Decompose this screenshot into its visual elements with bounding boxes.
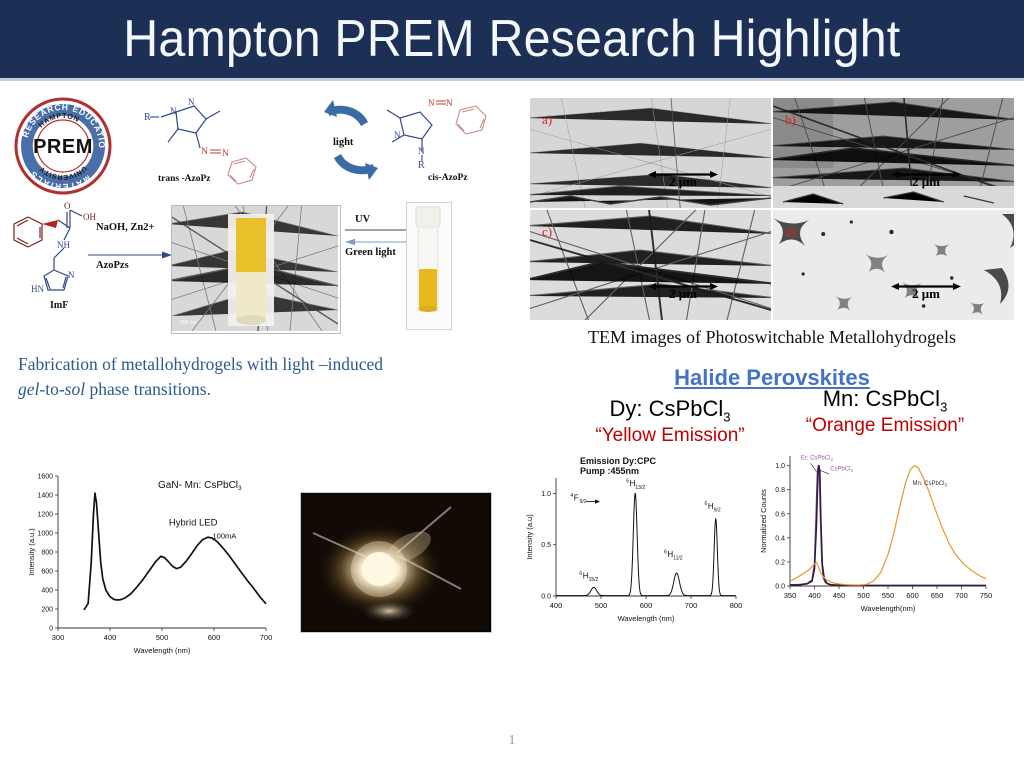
mn-cspbcl3-label-group: Mn: CsPbCl3 “Orange Emission” — [760, 386, 1010, 438]
svg-text:9/2: 9/2 — [580, 499, 587, 505]
tem-panel-c-scalebar: 2 μm — [639, 278, 727, 302]
svg-text:0.0: 0.0 — [541, 594, 551, 601]
svg-text:350: 350 — [784, 591, 797, 600]
svg-text:400: 400 — [41, 588, 53, 595]
svg-text:1000: 1000 — [37, 531, 53, 538]
tem-panel-d-label: d) — [785, 224, 796, 240]
mn-compound-prefix: Mn: CsPbCl — [823, 386, 940, 411]
svg-text:N: N — [188, 97, 195, 107]
tem-panel-d-scalebar: 2 μm — [882, 278, 970, 302]
hybrid-led-glow-photo — [300, 492, 492, 633]
svg-text:600: 600 — [208, 633, 221, 642]
reagent-line-1: NaOH, Zn2+ — [96, 222, 176, 234]
svg-text:600: 600 — [41, 569, 53, 576]
svg-text:Pump :455nm: Pump :455nm — [580, 466, 639, 476]
svg-text:NH: NH — [57, 240, 70, 250]
svg-text:Hybrid LED: Hybrid LED — [169, 517, 218, 528]
svg-text:1.0: 1.0 — [775, 463, 785, 470]
svg-text:800: 800 — [41, 550, 53, 557]
svg-text:Wavelength (nm): Wavelength (nm) — [134, 646, 191, 655]
svg-text:600: 600 — [906, 591, 919, 600]
svg-text:0.2: 0.2 — [775, 559, 785, 566]
tem-image-grid: a) 2 μm — [530, 98, 1014, 320]
svg-text:0.0: 0.0 — [775, 584, 785, 591]
svg-text:N: N — [428, 98, 435, 108]
svg-text:9/2: 9/2 — [714, 507, 721, 513]
svg-text:N: N — [68, 270, 75, 280]
svg-text:N: N — [201, 147, 208, 157]
svg-text:400: 400 — [550, 601, 563, 610]
svg-text:cis-AzoPz: cis-AzoPz — [428, 173, 468, 183]
tem-caption: TEM images of Photoswitchable Metallohyd… — [530, 327, 1014, 348]
svg-text:1200: 1200 — [37, 512, 53, 519]
dy-compound-prefix: Dy: CsPbCl — [610, 396, 724, 421]
fabrication-caption-gel: gel — [18, 379, 39, 399]
svg-text:Wavelength(nm): Wavelength(nm) — [861, 604, 916, 613]
svg-text:750: 750 — [980, 591, 993, 600]
page-title: Hampton PREM Research Highlight — [123, 13, 900, 65]
svg-text:11/2: 11/2 — [673, 556, 683, 562]
svg-text:Mn: CsPbCl3: Mn: CsPbCl3 — [913, 481, 948, 488]
synthesis-arrow-icon — [88, 247, 172, 257]
svg-text:N: N — [394, 130, 401, 140]
svg-text:Normalized Counts: Normalized Counts — [759, 489, 768, 553]
hampton-prem-logo: RESEARCH EDUCATION MATERIALS HAMPTON UNI… — [13, 96, 113, 196]
svg-text:700: 700 — [260, 633, 273, 642]
svg-text:0.6: 0.6 — [775, 511, 785, 518]
tem-panel-b-scalebar: 2 μm — [882, 166, 970, 190]
svg-text:650: 650 — [931, 591, 944, 600]
svg-text:Intensity (a.u.): Intensity (a.u.) — [27, 528, 36, 576]
svg-text:450: 450 — [833, 591, 846, 600]
reagent-line-2: AzoPzs — [96, 260, 176, 272]
mn-compound-subscript: 3 — [940, 399, 947, 414]
tem-panel-a: a) 2 μm — [530, 98, 771, 208]
mn-emission-label: “Orange Emission” — [760, 415, 1010, 438]
tem-panel-d: d) 2 μm — [773, 210, 1014, 320]
svg-text:PREM: PREM — [33, 136, 93, 158]
tem-panel-c: c) 2 μm — [530, 210, 771, 320]
chart-gan-mn-cspbcl3: 3004005006007000200400600800100012001400… — [18, 462, 288, 672]
azopz-photoswitch-scheme: R N N N N trans -AzoPz light — [128, 92, 518, 192]
svg-text:0.8: 0.8 — [775, 487, 785, 494]
svg-text:700: 700 — [685, 601, 698, 610]
svg-text:N: N — [222, 149, 229, 159]
svg-text:0.4: 0.4 — [775, 535, 785, 542]
tem-panel-a-label: a) — [542, 112, 552, 128]
svg-text:700: 700 — [955, 591, 968, 600]
svg-text:R: R — [418, 160, 425, 171]
svg-text:500: 500 — [595, 601, 608, 610]
fabrication-caption: Fabrication of metallohydrogels with lig… — [18, 352, 498, 402]
svg-text:light: light — [333, 137, 354, 148]
svg-text:Emission Dy:CPC: Emission Dy:CPC — [580, 456, 657, 466]
svg-text:400: 400 — [808, 591, 821, 600]
page-number: 1 — [0, 733, 1024, 749]
fabrication-caption-sol: sol — [65, 379, 85, 399]
svg-text:GaN- Mn: CsPbCl3: GaN- Mn: CsPbCl3 — [158, 480, 242, 492]
svg-text:500: 500 — [857, 591, 870, 600]
svg-text:800: 800 — [730, 601, 743, 610]
svg-text:1400: 1400 — [37, 493, 53, 500]
fabrication-caption-line1: Fabrication of metallohydrogels with lig… — [18, 354, 383, 374]
chart-dy-cspbcl3-emission: 4005006007008000.00.51.0Wavelength (nm)I… — [520, 450, 760, 645]
svg-text:300: 300 — [52, 633, 65, 642]
svg-text:13/2: 13/2 — [635, 485, 645, 491]
tem-panel-b-label: b) — [785, 112, 796, 128]
svg-text:600: 600 — [640, 601, 653, 610]
svg-text:R: R — [144, 112, 151, 123]
svg-text:400: 400 — [104, 633, 117, 642]
svg-text:Er: CsPbCl3: Er: CsPbCl3 — [801, 456, 834, 463]
slide-header: Hampton PREM Research Highlight — [0, 0, 1024, 81]
tem-panel-a-scalebar: 2 μm — [639, 166, 727, 190]
svg-text:CsPbCl3: CsPbCl3 — [830, 466, 853, 473]
svg-text:ImF: ImF — [50, 300, 68, 311]
svg-text:OH: OH — [83, 212, 96, 222]
svg-text:500: 500 — [156, 633, 169, 642]
svg-text:Wavelength (nm): Wavelength (nm) — [618, 614, 675, 623]
svg-text:HN: HN — [31, 284, 44, 294]
svg-text:N: N — [446, 98, 453, 108]
mn-compound-label: Mn: CsPbCl3 — [760, 386, 1010, 415]
chart-mn-er-cspbcl3: 3504004505005506006507007500.00.20.40.60… — [748, 440, 1014, 640]
svg-text:O: O — [64, 201, 71, 211]
svg-text:1.0: 1.0 — [541, 491, 551, 498]
metallohydrogel-sol-vial-photo — [406, 202, 452, 330]
fabrication-caption-end: phase transitions. — [85, 379, 211, 399]
tem-scale-text: 200 nm — [180, 320, 197, 326]
tem-panel-b: b) 2 μm — [773, 98, 1014, 208]
tem-panel-c-label: c) — [542, 224, 552, 240]
fabrication-caption-mid: -to- — [39, 379, 64, 399]
svg-text:N: N — [418, 146, 425, 156]
svg-text:550: 550 — [882, 591, 895, 600]
svg-text:0.5: 0.5 — [541, 542, 551, 549]
svg-text:0: 0 — [49, 626, 53, 633]
svg-text:1600: 1600 — [37, 474, 53, 481]
svg-text:F: F — [574, 494, 579, 503]
dy-compound-subscript: 3 — [723, 409, 730, 424]
svg-text:Intensity (a.u): Intensity (a.u) — [525, 514, 534, 560]
svg-text:15/2: 15/2 — [589, 577, 599, 583]
svg-text:100mA: 100mA — [213, 532, 237, 541]
slide-root: Hampton PREM Research Highlight RESEARCH… — [0, 0, 1024, 768]
svg-text:200: 200 — [41, 607, 53, 614]
metallohydrogel-gel-vial-photo: 200 nm — [171, 205, 341, 334]
svg-text:N: N — [170, 106, 177, 116]
svg-text:trans -AzoPz: trans -AzoPz — [158, 174, 211, 184]
